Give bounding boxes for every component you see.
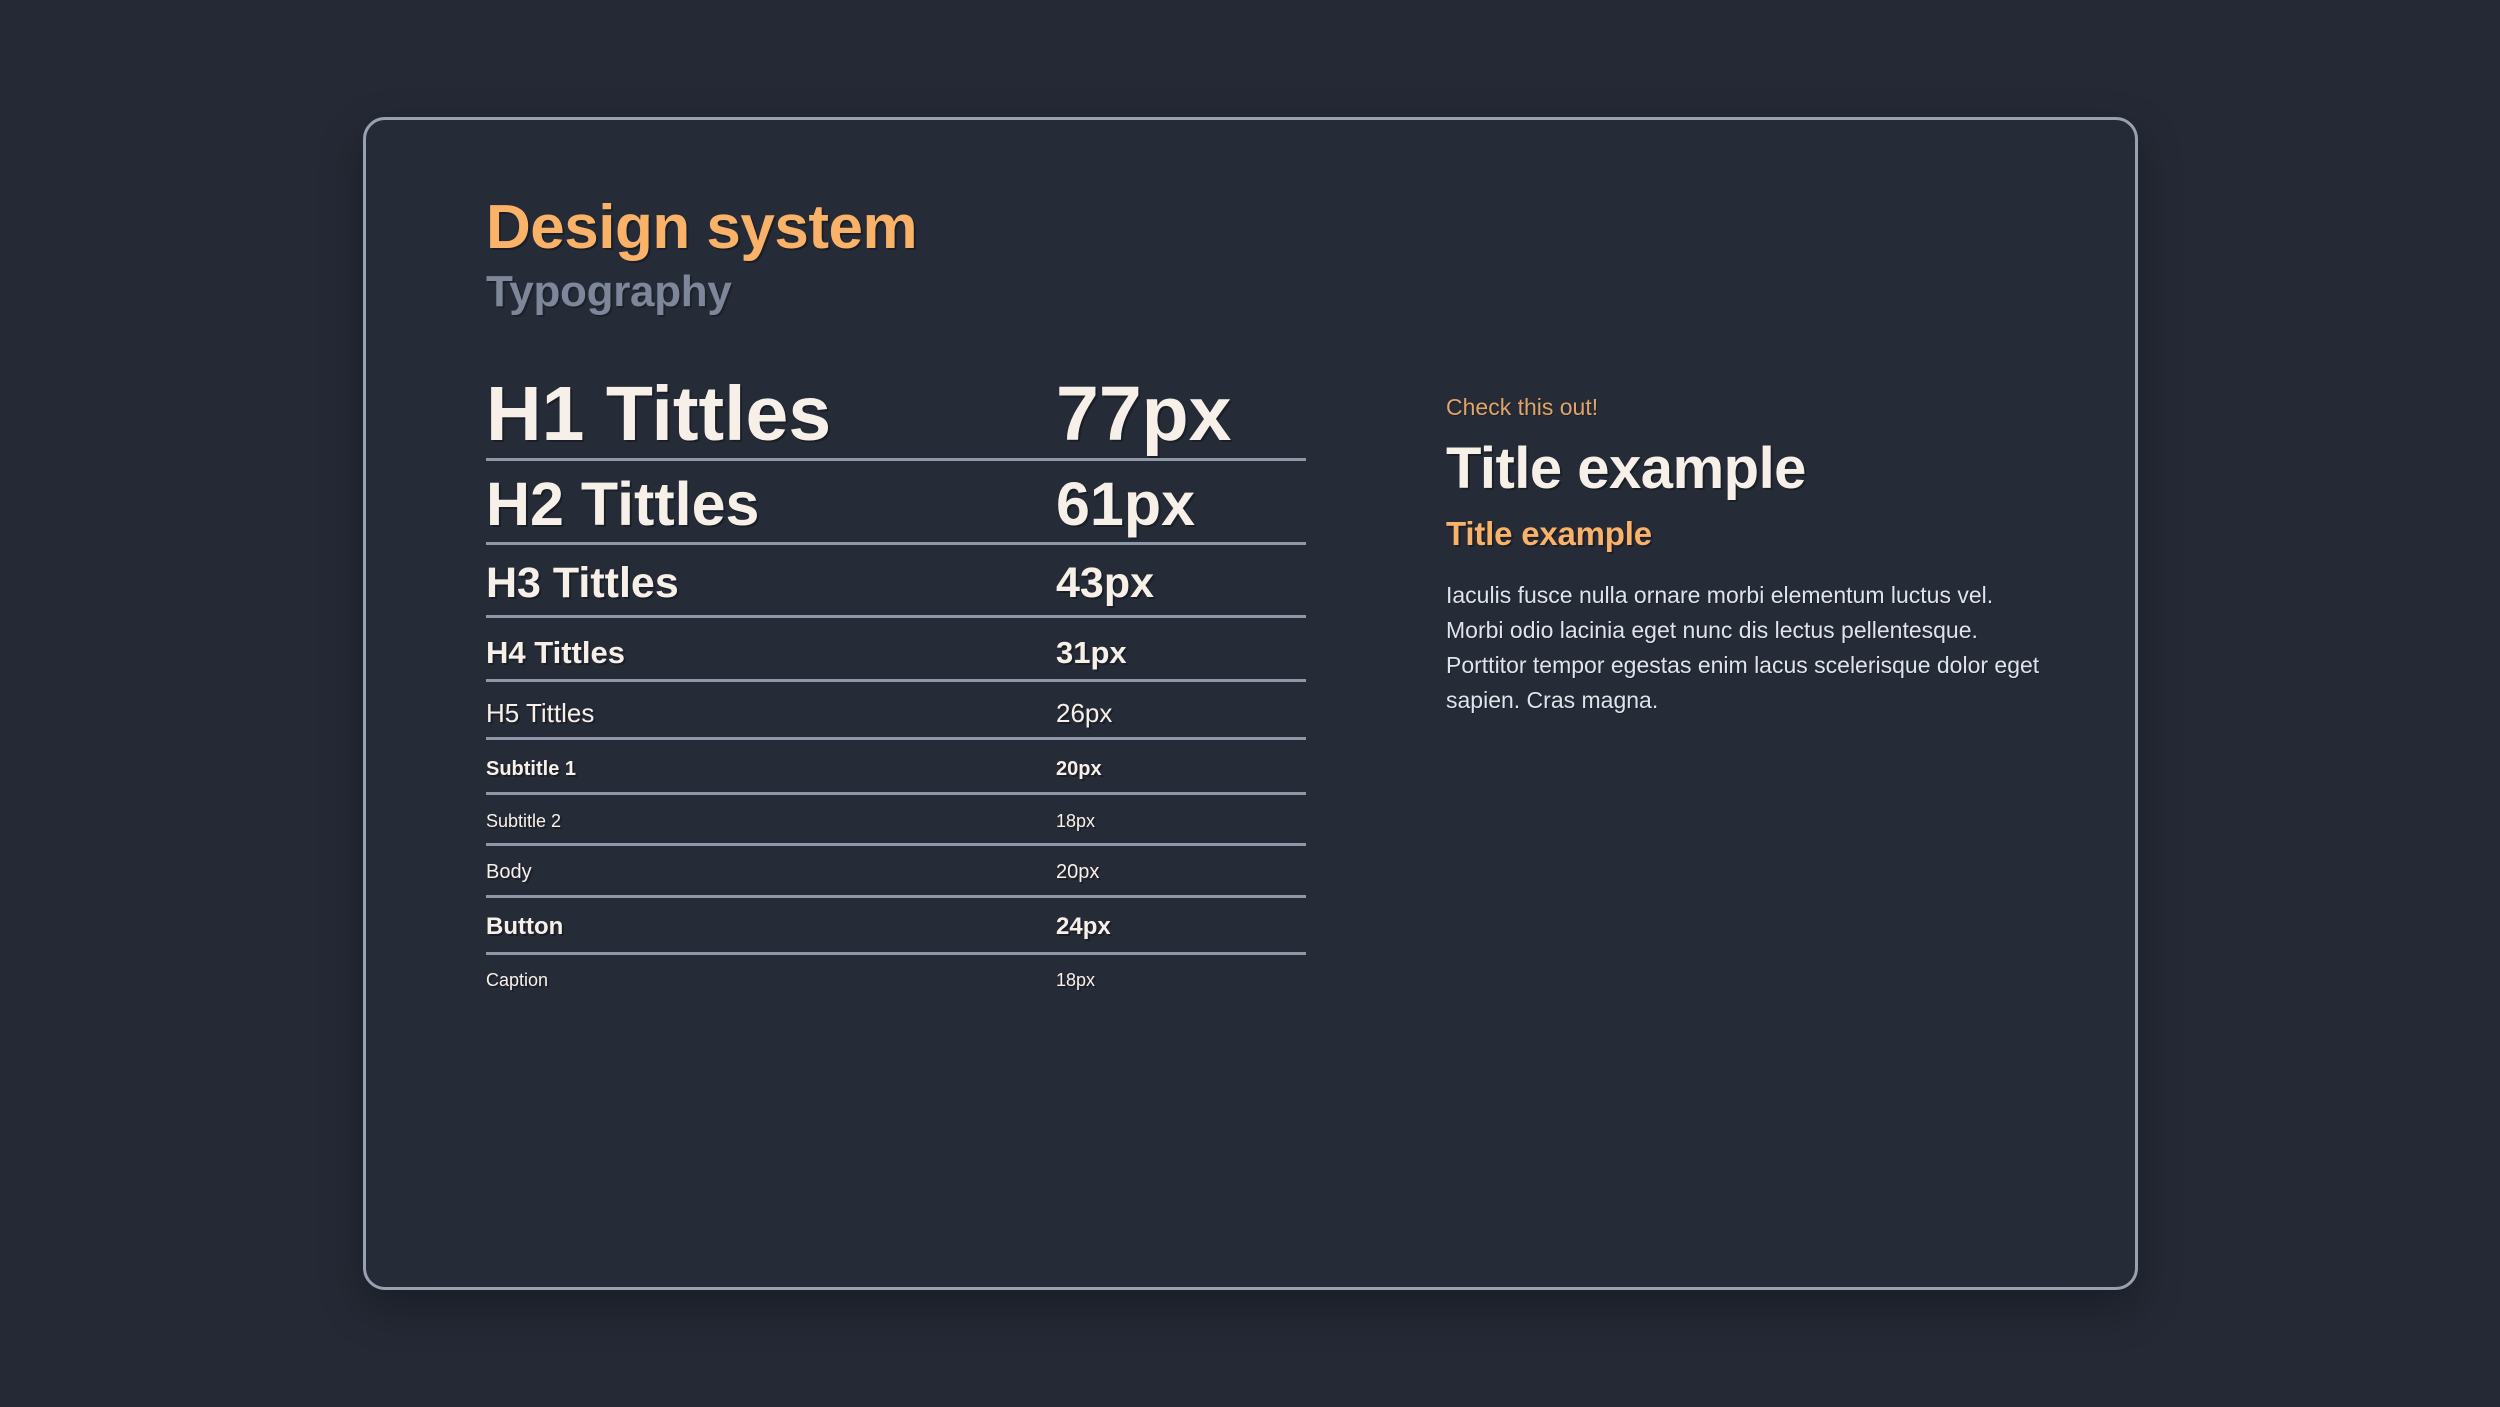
scale-size: 43px: [1056, 559, 1306, 608]
table-row: H1 Tittles 77px: [486, 374, 1306, 461]
table-row: H3 Tittles 43px: [486, 545, 1306, 617]
content-columns: H1 Tittles 77px H2 Tittles 61px H3 Tittl…: [486, 374, 2075, 991]
scale-size: 18px: [1056, 810, 1306, 833]
scale-name: H5 Tittles: [486, 698, 1056, 729]
scale-name: Button: [486, 912, 1056, 942]
scale-size: 20px: [1056, 757, 1306, 782]
scale-name: H3 Tittles: [486, 559, 1056, 608]
typography-card: Design system Typography H1 Tittles 77px…: [363, 117, 2138, 1290]
scale-name: Caption: [486, 969, 1056, 992]
demo-eyebrow: Check this out!: [1446, 394, 2066, 421]
page-subtitle: Typography: [486, 268, 2075, 316]
table-row: Subtitle 1 20px: [486, 740, 1306, 795]
card-content: Design system Typography H1 Tittles 77px…: [486, 195, 2075, 1247]
scale-size: 24px: [1056, 912, 1306, 942]
demo-subtitle: Title example: [1446, 514, 2066, 554]
table-row: H4 Tittles 31px: [486, 618, 1306, 682]
type-scale-table: H1 Tittles 77px H2 Tittles 61px H3 Tittl…: [486, 374, 1306, 991]
demo-title: Title example: [1446, 437, 2066, 502]
page-title: Design system: [486, 195, 2075, 260]
table-row: H2 Tittles 61px: [486, 461, 1306, 545]
demo-block: Check this out! Title example Title exam…: [1446, 374, 2066, 717]
scale-name: Subtitle 2: [486, 810, 1056, 833]
page-root: { "page": { "background_color": "#242935…: [0, 0, 2500, 1407]
scale-size: 61px: [1056, 471, 1306, 538]
table-row: Button 24px: [486, 898, 1306, 955]
scale-name: Subtitle 1: [486, 757, 1056, 782]
scale-size: 77px: [1056, 374, 1306, 456]
type-scale-column: H1 Tittles 77px H2 Tittles 61px H3 Tittl…: [486, 374, 1316, 991]
scale-size: 20px: [1056, 860, 1306, 885]
table-row: Subtitle 2 18px: [486, 795, 1306, 846]
scale-size: 18px: [1056, 969, 1306, 992]
table-row: Body 20px: [486, 846, 1306, 898]
demo-column: Check this out! Title example Title exam…: [1446, 374, 2066, 991]
scale-name: H4 Tittles: [486, 634, 1056, 671]
table-row: Caption 18px: [486, 955, 1306, 992]
scale-size: 31px: [1056, 634, 1306, 671]
scale-size: 26px: [1056, 698, 1306, 729]
scale-name: H1 Tittles: [486, 374, 1056, 456]
scale-name: H2 Tittles: [486, 471, 1056, 538]
table-row: H5 Tittles 26px: [486, 682, 1306, 740]
scale-name: Body: [486, 860, 1056, 885]
demo-paragraph: Iaculis fusce nulla ornare morbi element…: [1446, 578, 2046, 718]
